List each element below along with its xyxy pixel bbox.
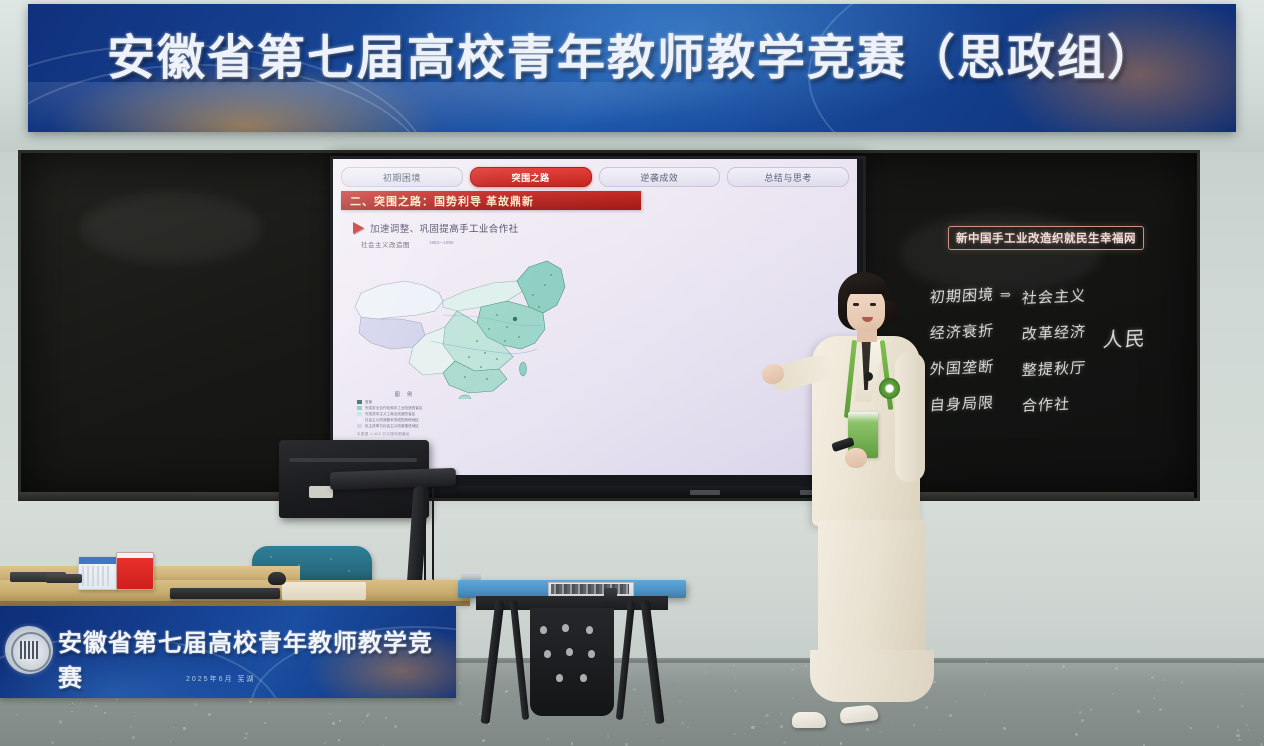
monitor-cable [424, 488, 426, 584]
presenter-shoe-left [792, 712, 826, 728]
map-legend-items: 首都完成农业合作化和手工业改造的省区完成资本主义工商业改造的省区社会主义改造基本… [357, 400, 453, 428]
map-legend-swatch [357, 418, 362, 422]
map-legend: 图 例 首都完成农业合作化和手工业改造的省区完成资本主义工商业改造的省区社会主义… [357, 391, 453, 444]
slide-bullet-item: 加速调整、巩固提高手工业合作社 [353, 221, 519, 235]
chalk-text-chalk-right-2: 改革经济 [1021, 321, 1087, 345]
top-banner-title: 安徽省第七届高校青年教师教学竞赛（思政组） [28, 18, 1236, 88]
china-map-svg [347, 249, 577, 399]
bezel-mark-center [690, 490, 720, 495]
classroom-scene: 安徽省第七届高校青年教师教学竞赛（思政组） 新中国手工业改造织就民生幸福网 初期… [0, 0, 1264, 746]
map-legend-row-3: 完成资本主义工商业改造的省区 [357, 412, 453, 416]
monitor-cable-2 [432, 488, 434, 580]
photo-document-image [551, 584, 629, 594]
map-legend-row-4: 社会主义改造基本完成的其他地区 [357, 418, 453, 422]
chalk-text-chalk-left-2: 经济衰折 [929, 320, 995, 344]
map-title: 社会主义改造图 [361, 239, 410, 249]
chalk-text-chalk-right-4: 合作社 [1021, 393, 1071, 416]
chalk-text-chalk-left-4: 自身局限 [929, 392, 995, 416]
map-legend-swatch [357, 412, 362, 416]
chalk-text-chalk-right-3: 整提秋厅 [1021, 357, 1087, 381]
map-legend-swatch [357, 406, 362, 410]
arrow-marker-icon [353, 222, 364, 234]
map-legend-row-2: 完成农业合作化和手工业改造的省区 [357, 406, 453, 410]
map-legend-text: 完成资本主义工商业改造的省区 [365, 412, 415, 416]
chalk-text-chalk-left-1: 初期困境 [929, 284, 995, 308]
slide-tab-1[interactable]: 初期困境 [341, 167, 463, 187]
slide-heading: 二、突围之路：国势利导 革故鼎新 [341, 191, 641, 210]
map-legend-text: 民主改革与社会主义改造推进地区 [365, 424, 419, 428]
china-map: 社会主义改造图 1953—1956 [347, 239, 577, 454]
map-legend-title: 图 例 [357, 391, 453, 398]
university-seal-core [20, 641, 38, 659]
presenter-right-arm [895, 352, 925, 482]
podium-keyboard[interactable] [170, 588, 280, 599]
presenter-fringe [845, 276, 887, 294]
map-legend-text: 完成农业合作化和手工业改造的省区 [365, 406, 423, 410]
map-legend-row-1: 首都 [357, 400, 453, 404]
map-legend-row-5: 民主改革与社会主义改造推进地区 [357, 424, 453, 428]
map-legend-text: 社会主义改造基本完成的其他地区 [365, 418, 419, 422]
presentation-screen[interactable]: 初期困境突围之路逆袭成效总结与思考 二、突围之路：国势利导 革故鼎新 加速调整、… [333, 159, 857, 475]
chalk-text-chalk-left-3: 外国垄断 [929, 356, 995, 380]
table-device-right[interactable] [604, 588, 617, 604]
map-title-note: 1953—1956 [429, 240, 454, 245]
table-center-panel [530, 608, 614, 716]
presenter-right-hand [845, 448, 867, 468]
keyboard-tray [282, 582, 366, 600]
podium-banner: 安徽省第七届高校青年教师教学竞赛 2025年6月 芜湖 [0, 606, 456, 698]
podium-banner-title: 安徽省第七届高校青年教师教学竞赛 [58, 623, 456, 693]
green-circular-pin [879, 378, 900, 399]
podium-mouse[interactable] [268, 572, 286, 585]
map-legend-footnote: 本图据 1:400 万中国地图编绘 [357, 431, 453, 436]
slide-bullet-text: 加速调整、巩固提高手工业合作社 [370, 221, 519, 235]
blue-box-ridges [82, 566, 112, 586]
map-legend-swatch [357, 424, 362, 428]
clip-microphone-icon [864, 372, 873, 381]
slide-tab-4[interactable]: 总结与思考 [727, 167, 849, 187]
podium-banner-subtitle: 2025年6月 芜湖 [186, 674, 255, 684]
slide-tab-bar[interactable]: 初期困境突围之路逆袭成效总结与思考 [341, 167, 849, 185]
presenter-eye-left [853, 303, 859, 306]
top-banner: 安徽省第七届高校青年教师教学竞赛（思政组） [28, 4, 1236, 132]
red-storage-box[interactable] [116, 552, 154, 590]
desk-item-left-2 [46, 574, 82, 583]
slide-tab-3[interactable]: 逆袭成效 [599, 167, 721, 187]
blackboard-topic-label: 新中国手工业改造织就民生幸福网 [948, 226, 1144, 250]
monitor-port [309, 486, 333, 498]
slide-tab-2[interactable]: 突围之路 [470, 167, 592, 187]
presenter-skirt-hem [810, 650, 934, 702]
chalk-arrow-icon: ⇒ [1000, 288, 1011, 303]
monitor-vent [289, 458, 417, 462]
chalk-keyword: 人民 [1102, 322, 1148, 353]
map-legend-swatch [357, 400, 362, 404]
chalk-text-chalk-right-1: 社会主义 [1021, 285, 1087, 309]
presenter-eye-right [870, 303, 876, 306]
map-legend-text: 首都 [365, 400, 372, 404]
